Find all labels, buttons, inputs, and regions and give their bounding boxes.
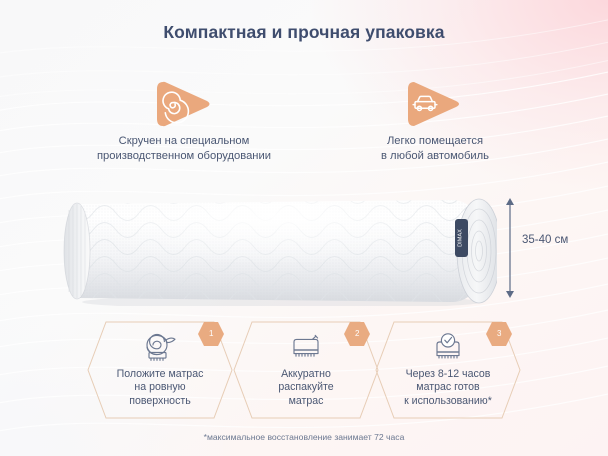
unpack-mattress-icon bbox=[289, 332, 323, 362]
svg-text:DIMAX: DIMAX bbox=[458, 229, 464, 247]
step-number-badge: 2 bbox=[355, 329, 359, 338]
step-number-badge: 3 bbox=[497, 329, 501, 338]
clock-check-mattress-icon bbox=[431, 331, 465, 363]
step-text: Положите матрас на ровную поверхность bbox=[117, 368, 204, 408]
step-icon-wrap bbox=[142, 330, 178, 364]
dimension-indicator: 35-40 см bbox=[500, 190, 604, 306]
feature-caption: Легко помещается в любой автомобиль bbox=[330, 134, 540, 163]
step-text: Аккуратно распакуйте матрас bbox=[278, 368, 333, 408]
feature-icon-wrap bbox=[52, 78, 316, 130]
dimension-label: 35-40 см bbox=[522, 234, 568, 246]
step-text: Через 8-12 часов матрас готов к использо… bbox=[404, 368, 492, 408]
infographic-canvas: Компактная и прочная упаковка Скручен на… bbox=[0, 0, 608, 456]
step-card-1: Положите матрас на ровную поверхность 1 bbox=[86, 320, 234, 420]
step-icon-wrap bbox=[431, 330, 465, 364]
page-title: Компактная и прочная упаковка bbox=[0, 22, 608, 43]
step-number-badge: 1 bbox=[209, 329, 213, 338]
feature-caption: Скручен на специальном производственном … bbox=[52, 134, 316, 163]
feature-icon-wrap bbox=[330, 78, 540, 130]
rolled-mattress-icon bbox=[142, 331, 178, 363]
vertical-double-arrow-icon bbox=[500, 190, 604, 306]
spiral-roll-icon bbox=[153, 79, 215, 129]
footnote: *максимальное восстановление занимает 72… bbox=[0, 432, 608, 442]
feature-item-production: Скручен на специальном производственном … bbox=[52, 78, 316, 163]
rolled-mattress-image: DIMAX bbox=[47, 196, 497, 306]
step-icon-wrap bbox=[289, 330, 323, 364]
car-icon bbox=[404, 79, 466, 129]
step-card-2: Аккуратно распакуйте матрас 2 bbox=[232, 320, 380, 420]
brand-tag: DIMAX bbox=[455, 219, 468, 257]
feature-item-car: Легко помещается в любой автомобиль bbox=[330, 78, 540, 163]
step-card-3: Через 8-12 часов матрас готов к использо… bbox=[374, 320, 522, 420]
